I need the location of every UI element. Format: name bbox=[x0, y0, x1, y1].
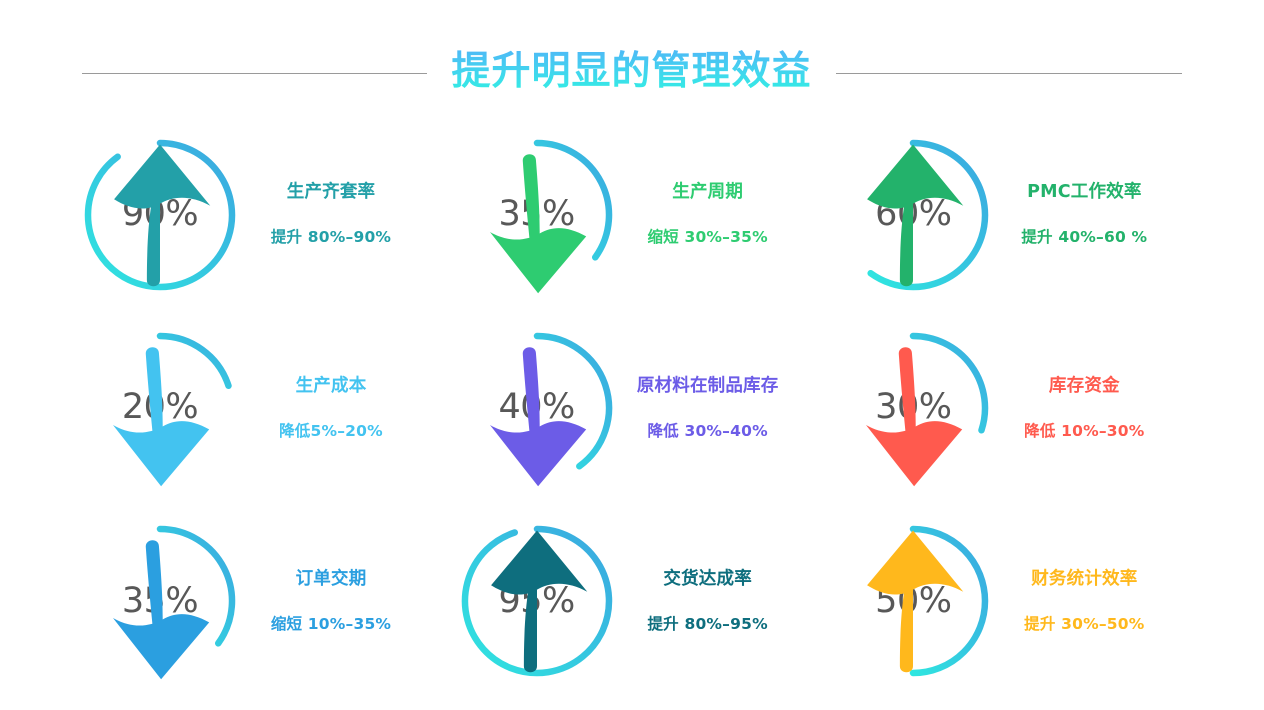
kpi-name: 生产齐套率 bbox=[287, 182, 376, 203]
arrow-up-icon bbox=[78, 138, 242, 302]
kpi-delta: 降低 10%–30% bbox=[1024, 422, 1144, 441]
kpi-text-inventory-capital: 库存资金 降低 10%–30% bbox=[1009, 376, 1159, 441]
arrow-up-icon bbox=[831, 524, 995, 688]
kpi-grid: 90% 生产齐套率 提升 80%–90% bbox=[70, 118, 1200, 698]
gauge-center: 95% bbox=[455, 519, 619, 683]
arrow-up-icon bbox=[455, 524, 619, 688]
arrow-down-icon bbox=[831, 331, 995, 495]
kpi-delta: 缩短 30%–35% bbox=[647, 228, 767, 247]
kpi-text-finance-statistics-efficiency: 财务统计效率 提升 30%–50% bbox=[1009, 569, 1159, 634]
gauge-center: 35% bbox=[455, 133, 619, 297]
kpi-name: 库存资金 bbox=[1049, 376, 1120, 397]
gauge-ring-production-kit-rate: 90% bbox=[78, 133, 242, 297]
kpi-item-raw-material-wip-inventory: 40% 原材料在制品库存 降低 30%–40% bbox=[447, 311, 824, 504]
kpi-item-inventory-capital: 30% 库存资金 降低 10%–30% bbox=[823, 311, 1200, 504]
kpi-name: 原材料在制品库存 bbox=[637, 376, 779, 397]
kpi-item-production-kit-rate: 90% 生产齐套率 提升 80%–90% bbox=[70, 118, 447, 311]
kpi-delta: 提升 80%–95% bbox=[647, 615, 767, 634]
kpi-text-raw-material-wip-inventory: 原材料在制品库存 降低 30%–40% bbox=[633, 376, 783, 441]
gauge-center: 30% bbox=[831, 326, 995, 490]
kpi-delta: 提升 80%–90% bbox=[271, 228, 391, 247]
gauge-ring-inventory-capital: 30% bbox=[831, 326, 995, 490]
slide-root: 提升明显的管理效益 90% bbox=[0, 0, 1264, 710]
kpi-item-pmc-efficiency: 60% PMC工作效率 提升 40%–60 % bbox=[823, 118, 1200, 311]
kpi-item-delivery-achievement-rate: 95% 交货达成率 提升 80%–95% bbox=[447, 505, 824, 698]
gauge-ring-raw-material-wip-inventory: 40% bbox=[455, 326, 619, 490]
gauge-ring-pmc-efficiency: 60% bbox=[831, 133, 995, 297]
arrow-up-icon bbox=[831, 138, 995, 302]
kpi-text-production-kit-rate: 生产齐套率 提升 80%–90% bbox=[256, 182, 406, 247]
gauge-center: 60% bbox=[831, 133, 995, 297]
kpi-delta: 提升 40%–60 % bbox=[1021, 228, 1147, 247]
kpi-name: 财务统计效率 bbox=[1031, 569, 1137, 590]
kpi-delta: 缩短 10%–35% bbox=[271, 615, 391, 634]
title-rule-left bbox=[82, 73, 427, 74]
arrow-down-icon bbox=[455, 331, 619, 495]
kpi-delta: 提升 30%–50% bbox=[1024, 615, 1144, 634]
arrow-down-icon bbox=[78, 331, 242, 495]
kpi-name: 交货达成率 bbox=[663, 569, 752, 590]
kpi-name: 生产周期 bbox=[672, 182, 743, 203]
gauge-ring-production-cost: 20% bbox=[78, 326, 242, 490]
gauge-ring-delivery-achievement-rate: 95% bbox=[455, 519, 619, 683]
gauge-center: 40% bbox=[455, 326, 619, 490]
title-rule-right bbox=[836, 73, 1182, 74]
kpi-text-pmc-efficiency: PMC工作效率 提升 40%–60 % bbox=[1009, 182, 1159, 247]
arrow-down-icon bbox=[78, 524, 242, 688]
kpi-delta: 降低5%–20% bbox=[279, 422, 383, 441]
gauge-center: 50% bbox=[831, 519, 995, 683]
kpi-item-production-cycle: 35% 生产周期 缩短 30%–35% bbox=[447, 118, 824, 311]
kpi-name: 生产成本 bbox=[296, 376, 367, 397]
kpi-name: PMC工作效率 bbox=[1027, 182, 1141, 203]
arrow-down-icon bbox=[455, 138, 619, 302]
kpi-delta: 降低 30%–40% bbox=[647, 422, 767, 441]
gauge-center: 90% bbox=[78, 133, 242, 297]
gauge-center: 20% bbox=[78, 326, 242, 490]
gauge-center: 35% bbox=[78, 519, 242, 683]
kpi-item-production-cost: 20% 生产成本 降低5%–20% bbox=[70, 311, 447, 504]
kpi-text-production-cycle: 生产周期 缩短 30%–35% bbox=[633, 182, 783, 247]
page-title: 提升明显的管理效益 bbox=[449, 48, 813, 99]
kpi-text-order-lead-time: 订单交期 缩短 10%–35% bbox=[256, 569, 406, 634]
kpi-text-production-cost: 生产成本 降低5%–20% bbox=[256, 376, 406, 441]
kpi-item-finance-statistics-efficiency: 50% 财务统计效率 提升 30%–50% bbox=[823, 505, 1200, 698]
gauge-ring-finance-statistics-efficiency: 50% bbox=[831, 519, 995, 683]
kpi-text-delivery-achievement-rate: 交货达成率 提升 80%–95% bbox=[633, 569, 783, 634]
gauge-ring-production-cycle: 35% bbox=[455, 133, 619, 297]
kpi-item-order-lead-time: 35% 订单交期 缩短 10%–35% bbox=[70, 505, 447, 698]
title-block: 提升明显的管理效益 bbox=[0, 40, 1264, 106]
kpi-name: 订单交期 bbox=[296, 569, 367, 590]
gauge-ring-order-lead-time: 35% bbox=[78, 519, 242, 683]
